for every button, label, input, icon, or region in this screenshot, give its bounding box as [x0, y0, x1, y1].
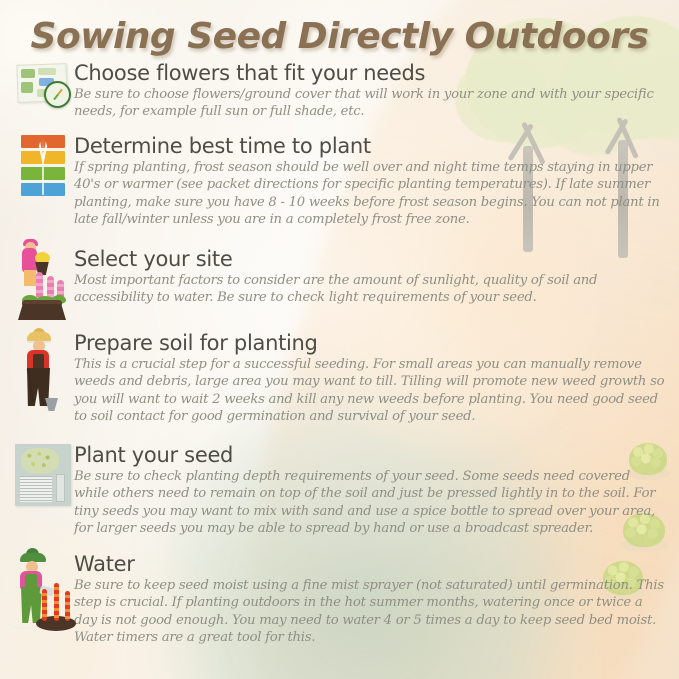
section-determine-time: Determine best time to plant If spring p…: [0, 135, 679, 229]
gardener-with-shovel-icon: [17, 332, 69, 412]
four-seasons-bands-icon: [21, 135, 65, 197]
plan-plot: [38, 68, 56, 75]
section-heading: Prepare soil for planting: [74, 332, 665, 355]
section-text: If spring planting, frost season should …: [74, 159, 665, 229]
garden-plan-compass-icon: [15, 62, 71, 108]
seed-tube: [56, 474, 65, 502]
section-text: Be sure to choose flowers/ground cover t…: [74, 86, 665, 121]
section-body: Select your site Most important factors …: [74, 248, 679, 307]
poster-title: Sowing Seed Directly Outdoors: [0, 16, 679, 57]
flower-stalk: [54, 583, 59, 621]
section-heading: Choose flowers that fit your needs: [74, 62, 665, 85]
section-heading: Select your site: [74, 248, 665, 271]
seed-mass: [21, 448, 59, 474]
section-water: Water Be sure to keep seed moist using a…: [0, 553, 679, 647]
section-body: Plant your seed Be sure to check plantin…: [74, 444, 679, 538]
flower-planter-icon: [14, 248, 72, 320]
shovel-blade: [45, 398, 58, 411]
section-icon-slot: [12, 444, 74, 506]
section-text: This is a crucial step for a successful …: [74, 356, 665, 426]
section-body: Choose flowers that fit your needs Be su…: [74, 62, 679, 121]
section-icon-slot: [12, 135, 74, 197]
section-icon-slot: [12, 62, 74, 108]
watering-gardener-icon: [12, 553, 74, 631]
section-body: Prepare soil for planting This is a cruc…: [74, 332, 679, 426]
section-plant-seed: Plant your seed Be sure to check plantin…: [0, 444, 679, 538]
section-text: Most important factors to consider are t…: [74, 272, 665, 307]
shrub-mound: [620, 538, 668, 552]
section-select-site: Select your site Most important factors …: [0, 248, 679, 320]
flower-stalk: [42, 589, 47, 621]
gardener-overalls-bib: [33, 354, 44, 370]
gardener-legs: [24, 270, 36, 286]
section-icon-slot: [12, 248, 74, 320]
plan-plot: [21, 69, 35, 78]
infographic-poster: Sowing Seed Directly Outdoors Choose flo: [0, 0, 679, 679]
section-body: Determine best time to plant If spring p…: [74, 135, 679, 229]
section-body: Water Be sure to keep seed moist using a…: [74, 553, 679, 647]
section-icon-slot: [12, 332, 74, 412]
section-text: Be sure to check planting depth requirem…: [74, 468, 665, 538]
compass-needle: [53, 88, 63, 99]
section-icon-slot: [12, 553, 74, 631]
plan-plot: [21, 82, 33, 93]
seed-packet-icon: [15, 444, 71, 506]
section-choose-flowers: Choose flowers that fit your needs Be su…: [0, 62, 679, 121]
flower-stalk: [65, 591, 70, 621]
section-heading: Determine best time to plant: [74, 135, 665, 158]
planter-tray: [18, 304, 66, 320]
section-heading: Water: [74, 553, 665, 576]
compass-icon: [44, 81, 71, 108]
seed-packet-label: [20, 476, 52, 502]
section-prepare-soil: Prepare soil for planting This is a cruc…: [0, 332, 679, 426]
section-text: Be sure to keep seed moist using a fine …: [74, 577, 665, 647]
section-heading: Plant your seed: [74, 444, 665, 467]
